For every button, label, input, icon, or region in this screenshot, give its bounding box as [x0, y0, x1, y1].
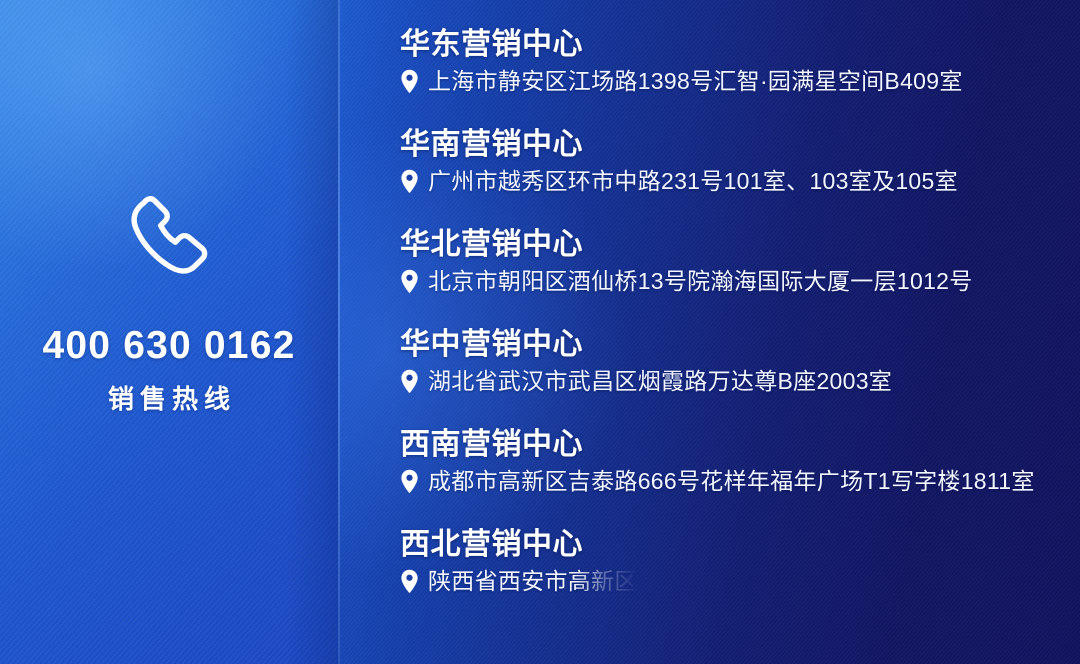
panel-divider	[338, 0, 340, 664]
office-item-east-china: 华东营销中心 上海市静安区江场路1398号汇智·园满星空间B409室	[400, 26, 1080, 126]
hotline-number[interactable]: 400 630 0162	[43, 326, 296, 365]
office-item-central-china: 华中营销中心 湖北省武汉市武昌区烟霞路万达尊B座2003室	[400, 326, 1080, 426]
office-address: 成都市高新区吉泰路666号花样年福年广场T1写字楼1811室	[428, 469, 1035, 494]
map-pin-icon	[400, 269, 419, 294]
office-address-row: 北京市朝阳区酒仙桥13号院瀚海国际大厦一层1012号	[400, 269, 1080, 294]
hotline-label: 销售热线	[102, 386, 236, 412]
phone-handset-icon	[117, 186, 221, 290]
office-name: 华中营销中心	[400, 328, 1080, 362]
office-address: 陕西省西安市高新区高新一路正信	[428, 569, 778, 594]
office-address-row: 陕西省西安市高新区高新一路正信	[400, 569, 1080, 594]
office-address: 湖北省武汉市武昌区烟霞路万达尊B座2003室	[428, 369, 892, 394]
office-item-north-china: 华北营销中心 北京市朝阳区酒仙桥13号院瀚海国际大厦一层1012号	[400, 226, 1080, 326]
office-item-northwest-china: 西北营销中心 陕西省西安市高新区高新一路正信	[400, 526, 1080, 626]
office-name: 华北营销中心	[400, 228, 1080, 262]
office-address-row: 上海市静安区江场路1398号汇智·园满星空间B409室	[400, 69, 1080, 94]
office-name: 西北营销中心	[400, 528, 1080, 562]
office-item-south-china: 华南营销中心 广州市越秀区环市中路231号101室、103室及105室	[400, 126, 1080, 226]
map-pin-icon	[400, 469, 419, 494]
office-address: 上海市静安区江场路1398号汇智·园满星空间B409室	[428, 69, 963, 94]
hotline-block: 400 630 0162 销售热线	[0, 186, 338, 412]
office-list: 华东营销中心 上海市静安区江场路1398号汇智·园满星空间B409室 华南营销中…	[400, 26, 1080, 664]
office-item-southwest-china: 西南营销中心 成都市高新区吉泰路666号花样年福年广场T1写字楼1811室	[400, 426, 1080, 526]
map-pin-icon	[400, 69, 419, 94]
offices-panel: 华东营销中心 上海市静安区江场路1398号汇智·园满星空间B409室 华南营销中…	[338, 0, 1080, 664]
map-pin-icon	[400, 569, 419, 594]
office-address-row: 广州市越秀区环市中路231号101室、103室及105室	[400, 169, 1080, 194]
office-name: 华南营销中心	[400, 128, 1080, 162]
office-name: 华东营销中心	[400, 28, 1080, 62]
office-address-row: 湖北省武汉市武昌区烟霞路万达尊B座2003室	[400, 369, 1080, 394]
office-address: 广州市越秀区环市中路231号101室、103室及105室	[428, 169, 958, 194]
office-address-row: 成都市高新区吉泰路666号花样年福年广场T1写字楼1811室	[400, 469, 1080, 494]
hotline-panel: 400 630 0162 销售热线	[0, 0, 338, 664]
map-pin-icon	[400, 369, 419, 394]
contact-banner: 400 630 0162 销售热线 华东营销中心 上海市静安区江场路1398号汇…	[0, 0, 1080, 664]
office-address: 北京市朝阳区酒仙桥13号院瀚海国际大厦一层1012号	[428, 269, 973, 294]
map-pin-icon	[400, 169, 419, 194]
office-name: 西南营销中心	[400, 428, 1080, 462]
